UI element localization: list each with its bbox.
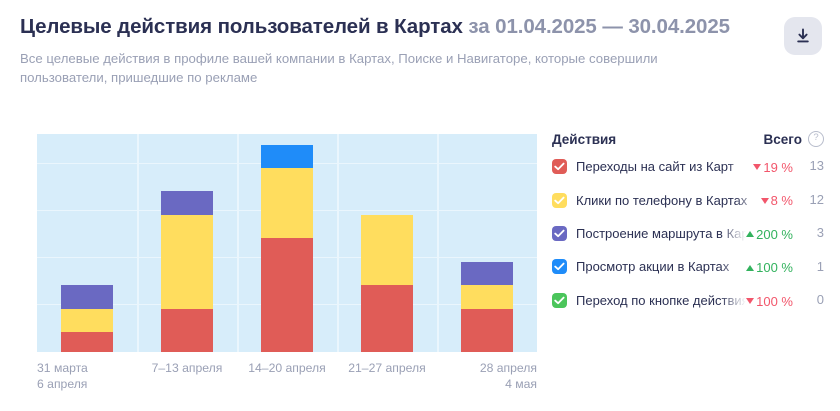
bar-segment[interactable] <box>61 285 113 308</box>
question-mark-icon[interactable]: ? <box>808 131 824 147</box>
gridline-vertical <box>237 134 239 352</box>
bar-segment[interactable] <box>61 332 113 352</box>
legend-checkbox[interactable] <box>552 226 567 241</box>
delta-text: 100 % <box>756 294 793 309</box>
page-title-period: за 01.04.2025 — 30.04.2025 <box>468 15 730 38</box>
legend-rows: Переходы на сайт из Карт19 %13Клики по т… <box>552 150 824 317</box>
legend-header: Действия Всего ? <box>552 128 824 150</box>
total-value: 0 <box>802 292 824 307</box>
page-title: Целевые действия пользователей в Картах … <box>20 14 780 40</box>
legend-item-label: Построение маршрута в Картах <box>576 226 746 241</box>
gridline-vertical <box>437 134 439 352</box>
delta-text: 100 % <box>756 260 793 275</box>
delta-value: 200 % <box>746 227 793 242</box>
legend-item-metrics: 8 %12 <box>761 192 824 209</box>
bar-segment[interactable] <box>261 238 313 352</box>
triangle-down-icon <box>761 198 769 204</box>
legend-checkbox[interactable] <box>552 293 567 308</box>
legend-col-total-label: Всего <box>764 132 802 147</box>
legend-item-label: Клики по телефону в Картах <box>576 193 761 208</box>
legend-col-total: Всего ? <box>764 131 824 147</box>
triangle-up-icon <box>746 231 754 237</box>
delta-text: 200 % <box>756 227 793 242</box>
bar-segment[interactable] <box>361 285 413 352</box>
legend-checkbox[interactable] <box>552 193 567 208</box>
bar-segment[interactable] <box>461 262 513 285</box>
bar-stack[interactable] <box>161 191 213 352</box>
delta-value: 19 % <box>753 160 793 175</box>
widget-header: Целевые действия пользователей в Картах … <box>20 14 780 87</box>
legend-item-label: Переходы на сайт из Карт <box>576 159 753 174</box>
triangle-down-icon <box>753 164 761 170</box>
x-axis-label: 7–13 апреля <box>137 360 237 376</box>
download-button[interactable] <box>784 17 822 55</box>
legend-item-metrics: 100 %0 <box>746 292 824 309</box>
legend-checkbox[interactable] <box>552 159 567 174</box>
download-icon <box>795 28 811 45</box>
delta-value: 100 % <box>746 294 793 309</box>
legend-item-metrics: 200 %3 <box>746 225 824 242</box>
gridline-vertical <box>337 134 339 352</box>
legend-col-actions: Действия <box>552 132 764 147</box>
legend-checkbox[interactable] <box>552 259 567 274</box>
legend-item-label: Переход по кнопке действия из Карт <box>576 293 746 308</box>
legend-item[interactable]: Клики по телефону в Картах8 %12 <box>552 183 824 216</box>
chart-plot-area <box>37 134 537 352</box>
bar-segment[interactable] <box>261 145 313 168</box>
bar-stack[interactable] <box>261 145 313 352</box>
delta-value: 8 % <box>761 193 793 208</box>
bar-segment[interactable] <box>461 285 513 308</box>
legend-item[interactable]: Переходы на сайт из Карт19 %13 <box>552 150 824 183</box>
legend: Действия Всего ? Переходы на сайт из Кар… <box>552 128 824 317</box>
legend-item[interactable]: Просмотр акции в Картах100 %1 <box>552 250 824 283</box>
total-value: 1 <box>802 259 824 274</box>
maps-target-actions-widget: Целевые действия пользователей в Картах … <box>0 0 840 411</box>
x-axis-label: 14–20 апреля <box>237 360 337 376</box>
total-value: 3 <box>802 225 824 240</box>
gridline-vertical <box>137 134 139 352</box>
bar-segment[interactable] <box>161 309 213 352</box>
bar-stack[interactable] <box>61 285 113 352</box>
chart-x-axis: 31 марта 6 апреля7–13 апреля14–20 апреля… <box>37 360 537 406</box>
delta-text: 19 % <box>763 160 793 175</box>
x-axis-label: 21–27 апреля <box>337 360 437 376</box>
total-value: 13 <box>802 158 824 173</box>
triangle-up-icon <box>746 265 754 271</box>
legend-item-label: Просмотр акции в Картах <box>576 259 746 274</box>
legend-item[interactable]: Переход по кнопке действия из Карт100 %0 <box>552 284 824 317</box>
delta-value: 100 % <box>746 260 793 275</box>
triangle-down-icon <box>746 298 754 304</box>
bar-stack[interactable] <box>461 262 513 352</box>
bar-segment[interactable] <box>261 168 313 238</box>
chart: 02468 31 марта 6 апреля7–13 апреля14–20 … <box>0 128 540 408</box>
bar-segment[interactable] <box>461 309 513 352</box>
page-subtitle: Все целевые действия в профиле вашей ком… <box>20 49 740 87</box>
legend-item-metrics: 100 %1 <box>746 259 824 276</box>
bar-segment[interactable] <box>61 309 113 332</box>
legend-item-metrics: 19 %13 <box>753 158 824 175</box>
legend-item[interactable]: Построение маршрута в Картах200 %3 <box>552 217 824 250</box>
bar-segment[interactable] <box>161 191 213 214</box>
bar-segment[interactable] <box>361 215 413 285</box>
total-value: 12 <box>802 192 824 207</box>
bar-stack[interactable] <box>361 215 413 352</box>
x-axis-label: 31 марта 6 апреля <box>37 360 137 392</box>
page-title-main: Целевые действия пользователей в Картах <box>20 15 463 38</box>
x-axis-label: 28 апреля 4 мая <box>437 360 537 392</box>
bar-segment[interactable] <box>161 215 213 309</box>
delta-text: 8 % <box>771 193 793 208</box>
